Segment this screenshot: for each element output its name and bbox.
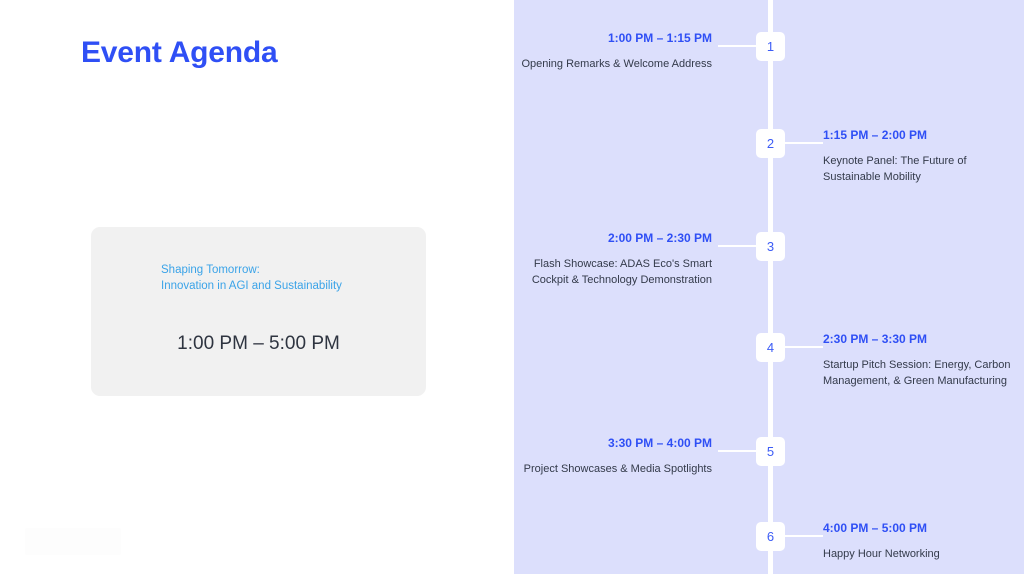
timeline-spine bbox=[768, 0, 773, 574]
timeline-item-time: 2:30 PM – 3:30 PM bbox=[823, 332, 1017, 346]
event-subtitle-line-2: Innovation in AGI and Sustainability bbox=[161, 278, 411, 294]
timeline-item-content: 1:00 PM – 1:15 PMOpening Remarks & Welco… bbox=[518, 31, 712, 72]
timeline-item-description: Flash Showcase: ADAS Eco's Smart Cockpit… bbox=[518, 256, 712, 288]
timeline-marker-2[interactable]: 2 bbox=[756, 129, 785, 158]
timeline-connector-line bbox=[718, 245, 756, 247]
watermark-placeholder bbox=[25, 528, 121, 555]
timeline-connector-line bbox=[785, 142, 823, 144]
timeline-marker-5[interactable]: 5 bbox=[756, 437, 785, 466]
timeline-connector-line bbox=[718, 450, 756, 452]
timeline-item-content: 4:00 PM – 5:00 PMHappy Hour Networking bbox=[823, 521, 1017, 562]
timeline-marker-4[interactable]: 4 bbox=[756, 333, 785, 362]
page-title: Event Agenda bbox=[81, 36, 278, 70]
timeline-panel: 11:00 PM – 1:15 PMOpening Remarks & Welc… bbox=[514, 0, 1024, 574]
timeline-item-time: 1:15 PM – 2:00 PM bbox=[823, 128, 1017, 142]
event-subtitle: Shaping Tomorrow: Innovation in AGI and … bbox=[161, 262, 411, 294]
timeline-item-content: 2:30 PM – 3:30 PMStartup Pitch Session: … bbox=[823, 332, 1017, 389]
timeline-item-time: 3:30 PM – 4:00 PM bbox=[518, 436, 712, 450]
timeline-item-time: 4:00 PM – 5:00 PM bbox=[823, 521, 1017, 535]
timeline-connector-line bbox=[785, 535, 823, 537]
event-info-card: Shaping Tomorrow: Innovation in AGI and … bbox=[91, 227, 426, 396]
left-panel: Event Agenda Shaping Tomorrow: Innovatio… bbox=[0, 0, 514, 574]
timeline-item-description: Keynote Panel: The Future of Sustainable… bbox=[823, 153, 1017, 185]
event-subtitle-line-1: Shaping Tomorrow: bbox=[161, 262, 411, 278]
timeline-marker-1[interactable]: 1 bbox=[756, 32, 785, 61]
timeline-item-description: Startup Pitch Session: Energy, Carbon Ma… bbox=[823, 357, 1017, 389]
timeline-item-content: 2:00 PM – 2:30 PMFlash Showcase: ADAS Ec… bbox=[518, 231, 712, 288]
timeline-item-description: Opening Remarks & Welcome Address bbox=[518, 56, 712, 72]
timeline-connector-line bbox=[785, 346, 823, 348]
event-time-range: 1:00 PM – 5:00 PM bbox=[91, 333, 426, 355]
timeline-marker-3[interactable]: 3 bbox=[756, 232, 785, 261]
timeline-item-time: 1:00 PM – 1:15 PM bbox=[518, 31, 712, 45]
timeline-item-description: Happy Hour Networking bbox=[823, 546, 1017, 562]
timeline-item-description: Project Showcases & Media Spotlights bbox=[518, 461, 712, 477]
timeline-item-content: 1:15 PM – 2:00 PMKeynote Panel: The Futu… bbox=[823, 128, 1017, 185]
timeline-item-content: 3:30 PM – 4:00 PMProject Showcases & Med… bbox=[518, 436, 712, 477]
timeline-connector-line bbox=[718, 45, 756, 47]
timeline-marker-6[interactable]: 6 bbox=[756, 522, 785, 551]
timeline-item-time: 2:00 PM – 2:30 PM bbox=[518, 231, 712, 245]
